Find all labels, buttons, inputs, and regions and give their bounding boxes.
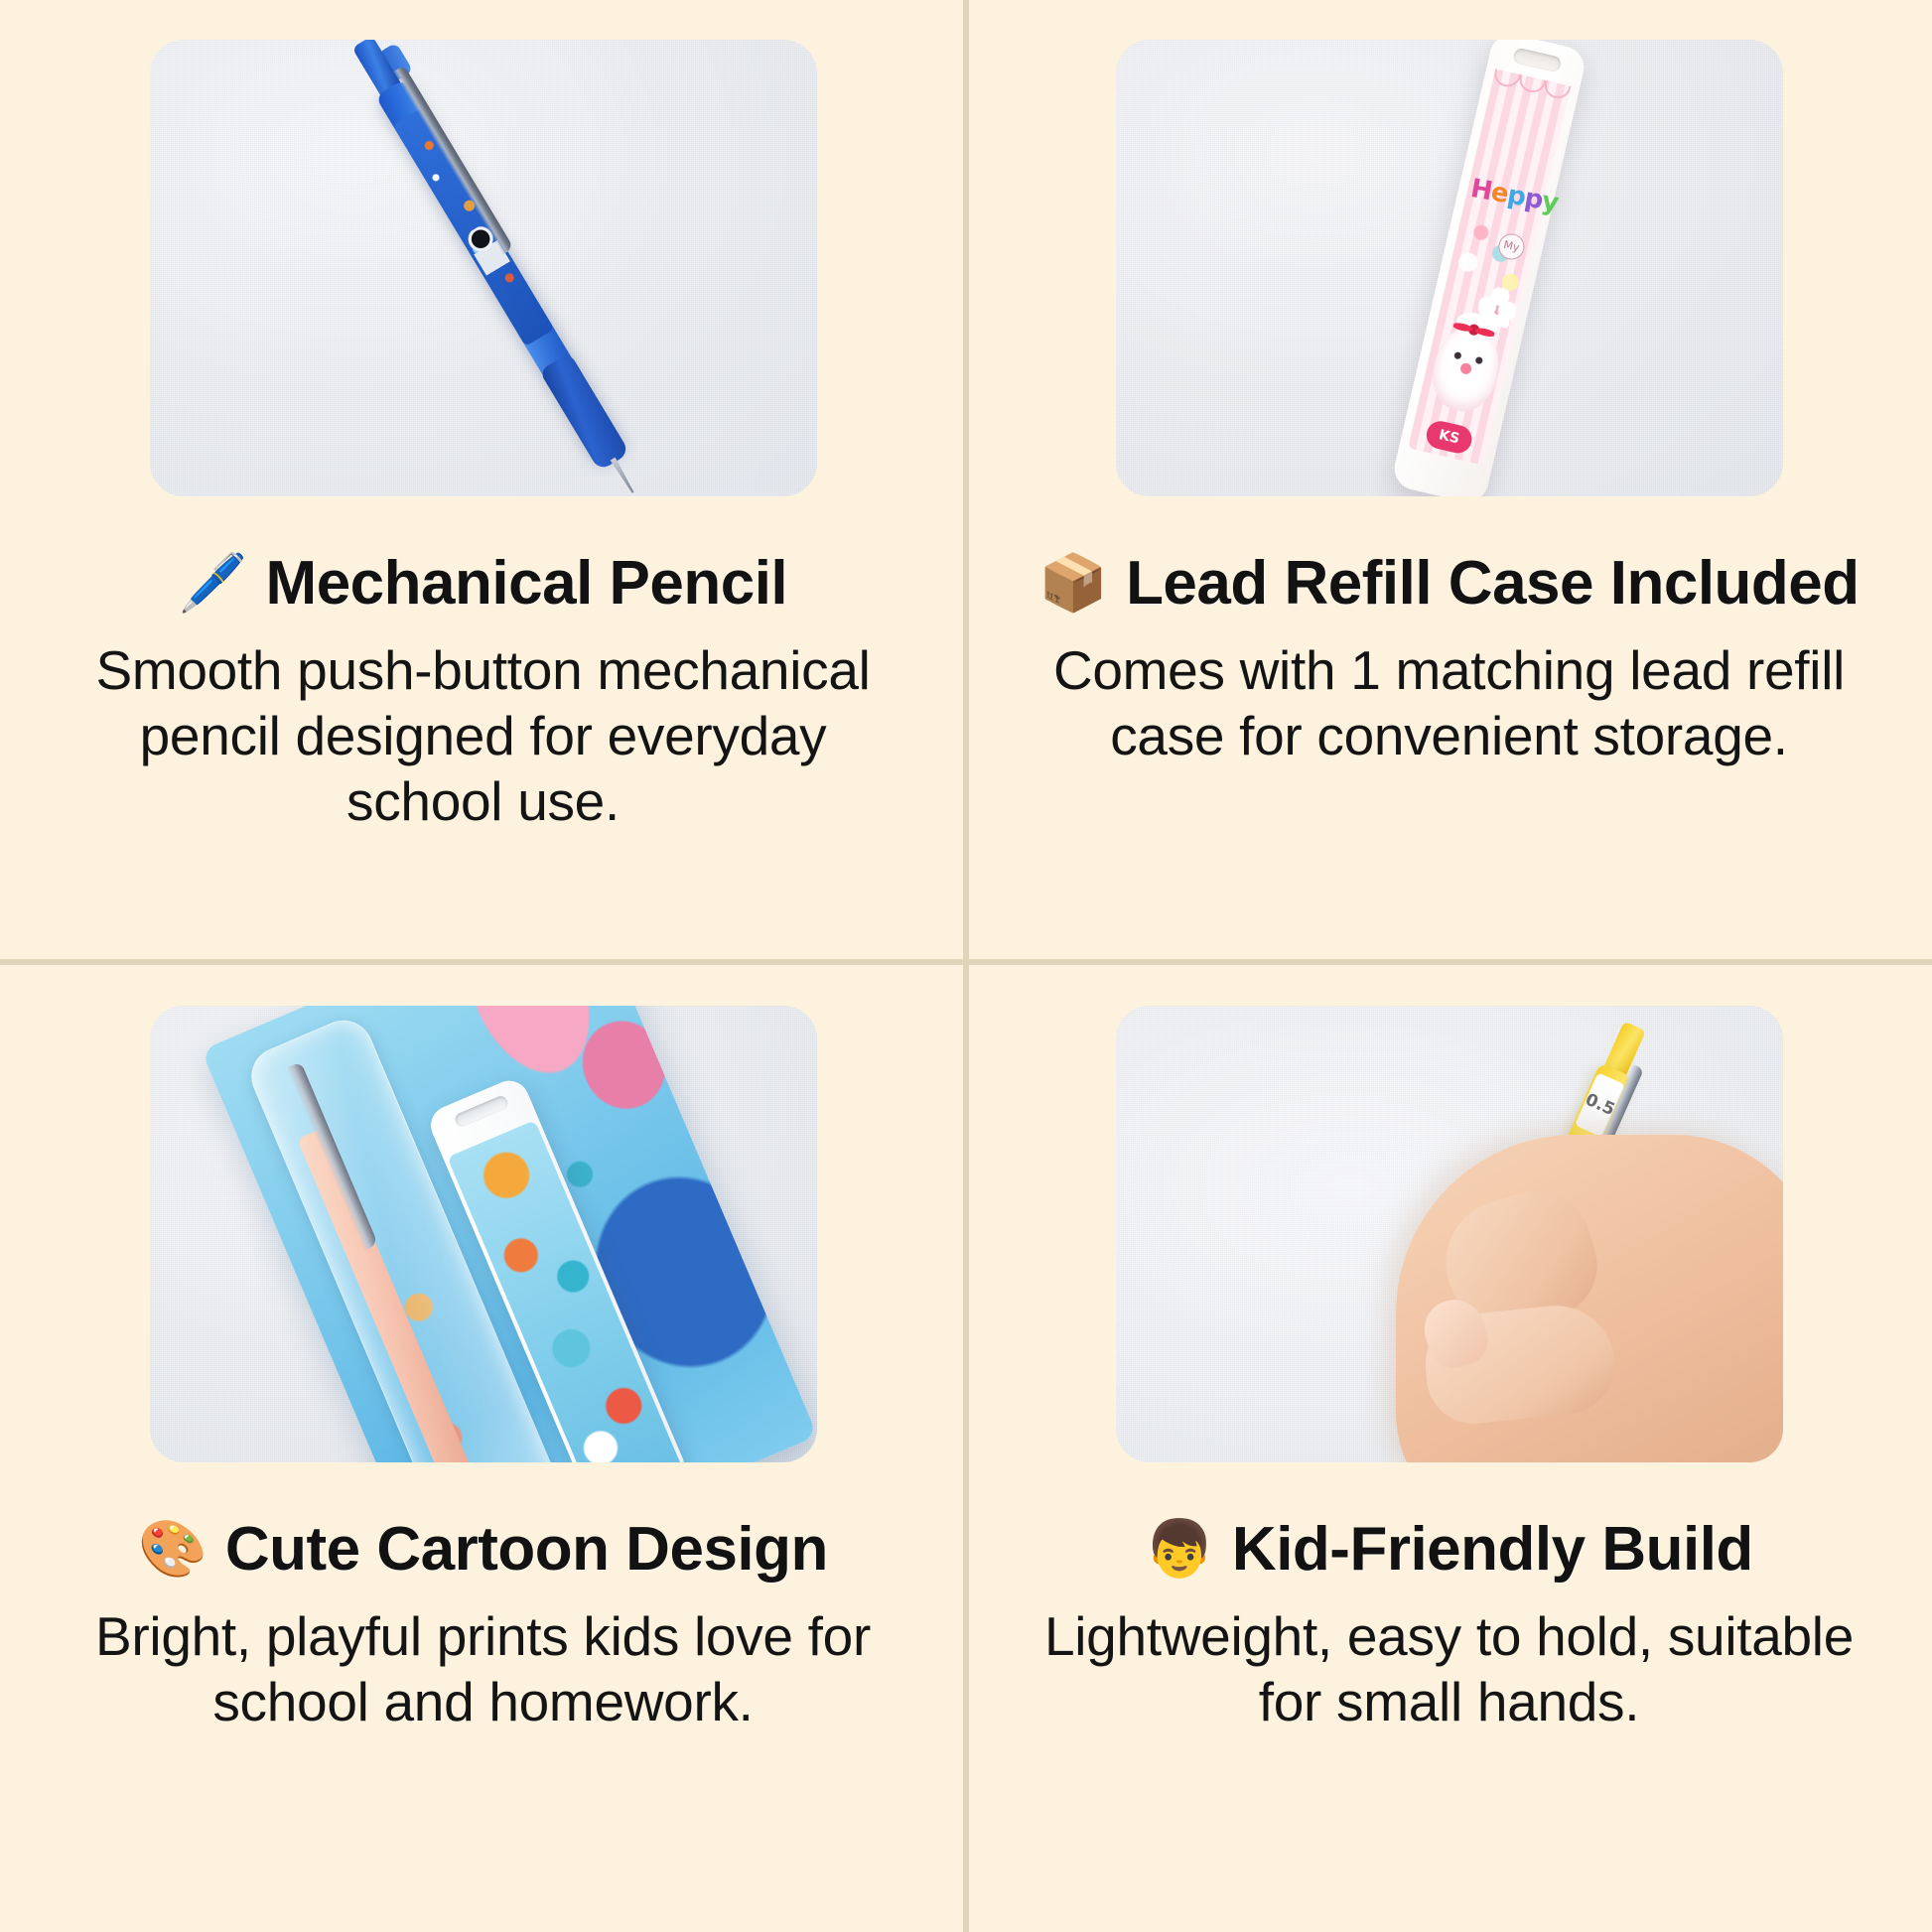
package-icon: 📦: [1038, 556, 1108, 612]
boy-icon: 👦: [1145, 1522, 1214, 1578]
feature-headline: 🎨 Cute Cartoon Design: [28, 1518, 938, 1582]
feature-cell-lead-refill-case: Heppy My KS 📦 Lead Refill Case Included …: [966, 0, 1932, 966]
feature-description: Smooth push-button mechanical pencil des…: [65, 637, 902, 834]
feature-cell-cute-cartoon-design: 🎨 Cute Cartoon Design Bright, playful pr…: [0, 966, 966, 1932]
feature-grid-infographic: 🖊️ Mechanical Pencil Smooth push-button …: [0, 0, 1932, 1932]
feature-headline: 🖊️ Mechanical Pencil: [28, 552, 938, 616]
feature-description: Lightweight, easy to hold, suitable for …: [1031, 1603, 1868, 1734]
feature-cell-kid-friendly-build: 0.5 👦 Kid-Friendly Build Lightweight, ea…: [966, 966, 1932, 1932]
child-hand-holding-pencil-photo: 0.5: [1116, 1006, 1783, 1462]
artist-palette-icon: 🎨: [138, 1522, 207, 1578]
feature-headline: 📦 Lead Refill Case Included: [994, 552, 1904, 616]
horizontal-divider: [0, 959, 1932, 965]
ocean-cartoon-packaging-photo: [150, 1006, 817, 1462]
feature-title: Cute Cartoon Design: [225, 1518, 828, 1582]
feature-description: Bright, playful prints kids love for sch…: [65, 1603, 902, 1734]
pink-lead-refill-case-photo: Heppy My KS: [1116, 40, 1783, 496]
child-hand-illustration: 0.5: [1116, 1006, 1783, 1462]
blue-space-mechanical-pencil-photo: [150, 40, 817, 496]
pen-icon: 🖊️: [179, 556, 248, 612]
feature-title: Mechanical Pencil: [266, 552, 788, 616]
feature-headline: 👦 Kid-Friendly Build: [994, 1518, 1904, 1582]
feature-title: Lead Refill Case Included: [1126, 552, 1860, 616]
pencil-metal-tip: [607, 456, 637, 495]
feature-title: Kid-Friendly Build: [1232, 1518, 1753, 1582]
feature-description: Comes with 1 matching lead refill case f…: [1031, 637, 1868, 768]
feature-cell-mechanical-pencil: 🖊️ Mechanical Pencil Smooth push-button …: [0, 0, 966, 966]
vertical-divider: [963, 0, 969, 1932]
